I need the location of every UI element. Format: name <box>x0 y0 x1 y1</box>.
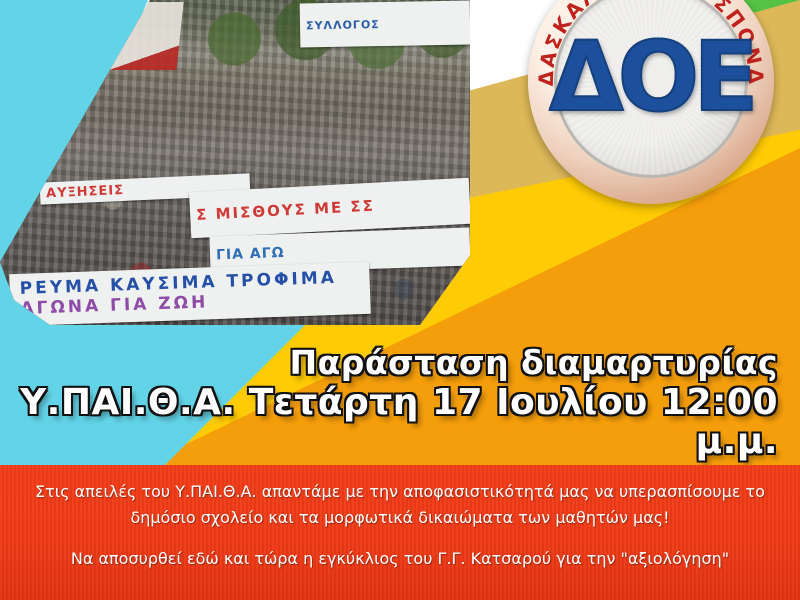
footer-paragraph-1: Στις απειλές του Υ.ΠΑΙ.Θ.Α. απαντάμε με … <box>24 479 776 530</box>
protest-banner-c-text: ΓΙΑ ΑΓΩ <box>216 245 285 263</box>
protest-announcement-poster: ΣΥΛΛΟΓΟΣ ΑΥΞΗΣΕΙΣ Σ ΜΙΣΘΟΥΣ ΜΕ ΣΣ ΓΙΑ ΑΓ… <box>0 0 800 600</box>
protest-banner-d-line2: ΑΓΩΝΑ ΓΙΑ ΖΩΗ <box>20 293 209 319</box>
footer-paragraph-2: Να αποσυρθεί εδώ και τώρα η εγκύκλιος το… <box>24 547 776 571</box>
protest-banner-a-text: ΑΥΞΗΣΕΙΣ <box>46 182 125 200</box>
doe-logo-letters: ΔΟΕ <box>549 29 752 125</box>
protest-banner-b-text: Σ ΜΙΣΘΟΥΣ ΜΕ ΣΣ <box>196 197 376 224</box>
headline-block: Παράσταση διαμαρτυρίας Υ.ΠΑΙ.Θ.Α. Τετάρτ… <box>0 345 800 461</box>
headline-line-2: Υ.ΠΑΙ.Θ.Α. Τετάρτη 17 Ιουλίου 12:00 μ.μ. <box>0 384 778 462</box>
doe-logo-seal: ΔΙΔΑΣΚΑΛΙΚΗ ΟΜΟΣΠΟΝΔΙΑ ΕΛΛΑΔΑΣ ΔΟΕ <box>528 0 774 204</box>
headline-line-1: Παράσταση διαμαρτυρίας <box>0 345 778 381</box>
protest-banner-e-text: ΣΥΛΛΟΓΟΣ <box>306 18 380 32</box>
footer-message-band: Στις απειλές του Υ.ΠΑΙ.Θ.Α. απαντάμε με … <box>0 465 800 600</box>
protest-banner-e: ΣΥΛΛΟΓΟΣ <box>300 1 470 48</box>
